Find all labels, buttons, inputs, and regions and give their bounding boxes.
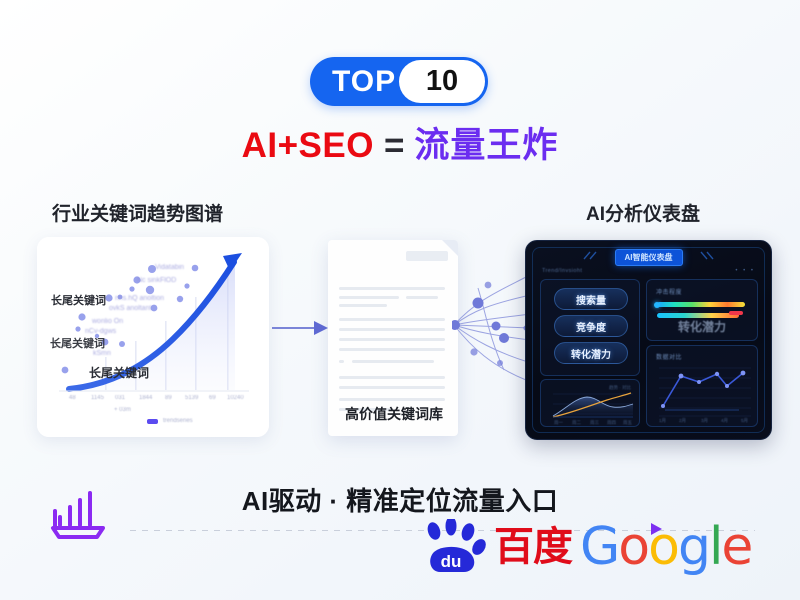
trend-blur-word-6: nCv-dgws (85, 328, 116, 335)
doc-bullet (339, 360, 344, 363)
google-letter-6: e (721, 517, 751, 577)
google-letter-5: l (709, 517, 721, 577)
ai-dashboard-panel: AI智能仪表盘 Trend/Invsioht • • • 搜索量 竞争度 转化潜… (525, 240, 772, 440)
metric-pill-competition[interactable]: 竞争度 (554, 315, 628, 337)
impact-gradient-bar-1 (657, 302, 745, 307)
baidu-wordmark: 百度 (494, 527, 572, 567)
doc-text-line (339, 348, 445, 351)
baidu-paw-icon: du (420, 519, 486, 575)
trend-axis-tick-3: 031 (115, 395, 125, 401)
top-rank-badge: TOP 10 (310, 57, 488, 106)
trend-axis-tick-2: 1145 (91, 395, 104, 401)
metric-pills-panel: 搜索量 竞争度 转化潜力 (540, 279, 640, 376)
trend-blur-word-5: wonlio On (92, 318, 123, 325)
area-tick-5: 周五 (623, 420, 632, 426)
doc-text-line (339, 328, 445, 331)
doc-text-line (339, 287, 445, 290)
line-tick-4: 4月 (721, 418, 728, 424)
headline-right: 流量王炸 (414, 126, 558, 165)
top-badge-number: 10 (426, 67, 458, 96)
trend-axis-tick-4: 1844 (139, 395, 152, 401)
dashboard-decor-left-icon (582, 251, 604, 261)
doc-text-line (339, 398, 445, 401)
area-tick-2: 周二 (572, 420, 581, 426)
gauge-knob-icon[interactable] (654, 302, 660, 308)
comparison-line-chart (647, 360, 757, 426)
doc-text-line (339, 318, 445, 321)
trend-legend-label: trendseries (163, 418, 193, 424)
trend-blur-word-3: nhs.hQ anoltion (115, 295, 164, 302)
trend-blur-word-7: kSmn (93, 350, 111, 357)
top-badge-word: TOP (332, 67, 396, 97)
page-title: AI+SEO=流量王炸 (0, 126, 800, 166)
headline-left: AI+SEO (242, 126, 374, 165)
impact-gauge-panel: 冲击程度 ————— 转化潜力 (646, 279, 758, 341)
trend-blur-word-1: Vidatabin (155, 264, 184, 271)
document-caption: 高价值关键词库 (331, 404, 457, 424)
gauge-panel-title: 冲击程度 (656, 287, 682, 296)
trend-keyword-label-1: 长尾关键词 (51, 292, 106, 308)
line-tick-2: 2月 (679, 418, 686, 424)
headline-equals: = (384, 126, 404, 165)
doc-text-line (406, 296, 438, 299)
doc-text-line (352, 360, 434, 363)
dashboard-title-badge: AI智能仪表盘 (615, 249, 683, 266)
google-letter-4: g (678, 517, 709, 577)
trend-axis-tick-7: 69 (209, 395, 216, 401)
trend-axis-tick-8: 10240 (227, 395, 244, 401)
google-letter-2: o (618, 517, 648, 577)
trend-blur-word-4: ovkS anoltant (109, 305, 151, 312)
doc-text-line (339, 376, 445, 379)
gauge-overlay-label: 转化潜力 (647, 318, 757, 335)
trend-axis-subtitle: + 03m (114, 407, 131, 413)
trend-keyword-label-3: 长尾关键词 (89, 364, 149, 381)
area-tick-3: 周三 (590, 420, 599, 426)
trend-axis-tick-1: 48 (69, 395, 76, 401)
metric-pill-search-volume[interactable]: 搜索量 (554, 288, 628, 310)
play-triangle-icon (648, 521, 664, 537)
google-wordmark: Google (580, 521, 751, 573)
gauge-threshold-chip (729, 311, 743, 315)
doc-header-tag (406, 251, 448, 261)
doc-text-line (339, 386, 445, 389)
trend-axis-tick-6: 5139 (185, 395, 198, 401)
baidu-du-text: du (441, 552, 462, 571)
doc-text-line (339, 296, 399, 299)
dashboard-menu-dots[interactable]: • • • (735, 268, 755, 274)
footer-slogan: AI驱动 · 精准定位流量入口 (0, 481, 800, 518)
trend-area-chart (541, 386, 639, 424)
keyword-trend-card: 长尾关键词 长尾关键词 长尾关键词 Vidatabin Nc sinkFlOD … (37, 237, 269, 437)
dashboard-meta-label: Trend/Invsioht (542, 268, 582, 274)
top-badge-number-chip: 10 (399, 60, 485, 103)
google-letter-1: G (580, 517, 618, 577)
comparison-line-panel: 数据对比 1月 2月 3月 4月 5月 (646, 345, 758, 427)
trend-blur-word-2: Nc sinkFlOD (137, 277, 176, 284)
trend-axis-tick-5: 89 (165, 395, 172, 401)
dashboard-decor-right-icon (693, 251, 715, 261)
line-tick-5: 5月 (741, 418, 748, 424)
trend-keyword-label-2: 长尾关键词 (50, 335, 105, 351)
trend-area-panel: 趋势 · 对比 周一 周二 周三 周四 周五 (540, 379, 640, 427)
knowledge-graph-network (452, 270, 532, 385)
line-tick-1: 1月 (659, 418, 666, 424)
left-section-caption: 行业关键词趋势图谱 (52, 199, 223, 226)
slide-canvas: TOP 10 AI+SEO=流量王炸 行业关键词趋势图谱 AI分析仪表盘 (0, 0, 800, 600)
area-tick-4: 周四 (607, 420, 616, 426)
doc-text-line (339, 338, 445, 341)
doc-text-line (339, 304, 387, 307)
search-engine-logos: du 百度 Google (420, 519, 751, 575)
area-tick-1: 周一 (554, 420, 563, 426)
line-tick-3: 3月 (701, 418, 708, 424)
right-section-caption: AI分析仪表盘 (586, 199, 700, 226)
flow-arrow-icon (272, 320, 330, 336)
metric-pill-conversion[interactable]: 转化潜力 (554, 342, 628, 364)
